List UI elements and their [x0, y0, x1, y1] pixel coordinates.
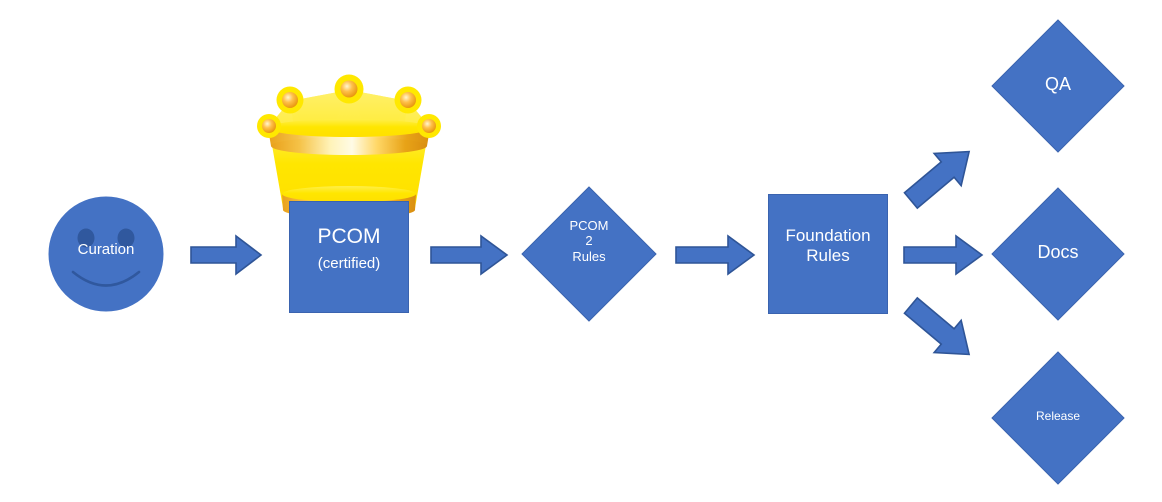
arrow-curation-to-pcom — [190, 233, 262, 277]
crown-jewel — [257, 114, 281, 138]
crown-jewel — [277, 87, 304, 114]
arrow-foundation-to-qa — [898, 138, 982, 214]
arrow-foundation-to-docs — [903, 233, 983, 277]
arrow-rules-to-foundation — [675, 233, 755, 277]
node-pcom-2-rules[interactable] — [521, 186, 657, 322]
node-docs[interactable] — [991, 187, 1125, 321]
node-foundation-rules[interactable] — [768, 194, 888, 314]
node-curation[interactable] — [48, 196, 164, 312]
node-pcom-certified[interactable] — [289, 201, 409, 313]
smiley-left-eye — [78, 229, 95, 248]
smiley-right-eye — [118, 229, 135, 248]
crown-jewel — [417, 114, 441, 138]
node-qa[interactable] — [991, 19, 1125, 153]
arrow-pcom-to-rules — [430, 233, 508, 277]
diagram-canvas: Curation — [0, 0, 1162, 502]
arrow-foundation-to-release — [898, 292, 982, 368]
crown-jewel — [395, 87, 422, 114]
node-release[interactable] — [991, 351, 1125, 485]
crown-jewel — [335, 75, 364, 104]
crown-icon — [249, 66, 449, 218]
